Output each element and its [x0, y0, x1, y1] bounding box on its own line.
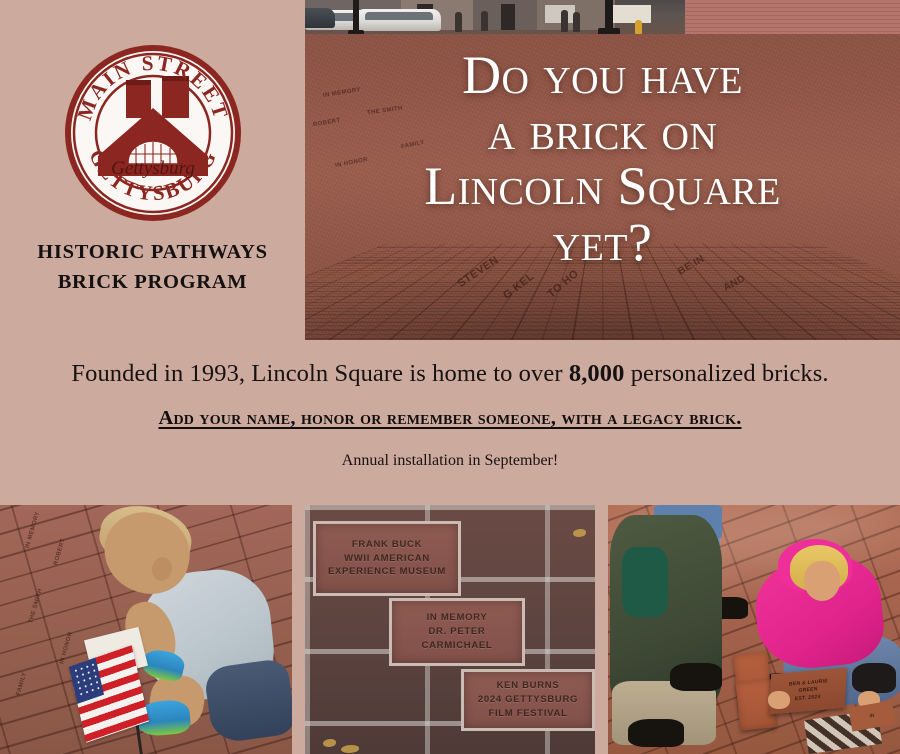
brand-column: MAIN STREET GETTYSBURG Gettysburg HISTOR… [0, 0, 305, 340]
fire-hydrant [635, 20, 642, 34]
call-to-action-text: Add your name, honor or remember someone… [158, 407, 741, 430]
car-window [365, 12, 433, 20]
storefront-door [501, 4, 515, 30]
headline-line-2: a brick on [319, 104, 886, 160]
brick-line: CARMICHAEL [422, 639, 493, 653]
flyer-root: MAIN STREET GETTYSBURG Gettysburg HISTOR… [0, 0, 900, 754]
hero-headline: Do you have a brick on Lincoln Square ye… [305, 48, 900, 270]
program-title-line-1: HISTORIC PATHWAYS [37, 238, 267, 268]
pedestrian [455, 12, 462, 32]
engraved-brick: KEN BURNS 2024 GETTYSBURG FILM FESTIVAL [461, 669, 595, 731]
installation-note: Annual installation in September! [342, 452, 558, 470]
lede-paragraph: Founded in 1993, Lincoln Square is home … [71, 360, 828, 388]
pedestrian [481, 11, 488, 31]
headline-line-3: Lincoln Square [319, 159, 886, 215]
streetscape-band [305, 0, 900, 38]
brick-line: FILM FESTIVAL [488, 707, 567, 721]
bystander-shoe [670, 663, 722, 691]
pedestrian [561, 10, 568, 32]
logo-script-text: Gettysburg [111, 158, 195, 179]
volunteer-boot [852, 663, 896, 693]
brick-line: EST. 2024 [795, 694, 821, 704]
brick-line: 2024 GETTYSBURG [478, 693, 578, 707]
parked-car [305, 8, 335, 28]
engraved-brick: FRANK BUCK WWII AMERICAN EXPERIENCE MUSE… [313, 521, 461, 596]
pedestrian [573, 12, 580, 32]
main-street-gettysburg-logo: MAIN STREET GETTYSBURG Gettysburg [64, 44, 242, 222]
brick-line: IN [869, 713, 875, 720]
toddler-shorts [203, 658, 292, 745]
hero-banner: IN MEMORY ROBERT THE SMITH FAMILY IN HON… [305, 0, 900, 340]
storefront-window [545, 5, 575, 23]
lede-suffix: personalized bricks. [624, 360, 828, 387]
headline-line-4: yet? [319, 215, 886, 271]
volunteer-hand [768, 691, 790, 709]
photo-gallery: IN MEMORY ROBERT THE SMITH IN HONOR FAMI… [0, 505, 900, 754]
brick-count: 8,000 [569, 360, 625, 387]
lamppost [353, 0, 359, 34]
bystander-green-shirt [622, 547, 668, 617]
brick-line: IN MEMORY [427, 611, 488, 625]
lede-prefix: Founded in 1993, Lincoln Square is home … [71, 360, 568, 387]
photo-brick-installation: BEN & LAURIE GREEN EST. 2024 IN [608, 505, 900, 754]
parked-car [357, 9, 441, 31]
brick-building-wall [685, 0, 900, 38]
body-text-block: Founded in 1993, Lincoln Square is home … [0, 340, 900, 505]
engraved-brick: IN MEMORY DR. PETER CARMICHAEL [389, 598, 525, 666]
seal-icon: MAIN STREET GETTYSBURG Gettysburg [64, 44, 242, 222]
program-title: HISTORIC PATHWAYS BRICK PROGRAM [37, 238, 267, 297]
brick-line: WWII AMERICAN [344, 552, 430, 566]
photo-engraved-bricks-closeup: FRANK BUCK WWII AMERICAN EXPERIENCE MUSE… [305, 505, 595, 754]
brick-line: DR. PETER [429, 625, 486, 639]
bystander-shoe [628, 719, 684, 747]
flag-stars [72, 662, 100, 700]
brick-line: KEN BURNS [497, 679, 560, 693]
volunteer-face [804, 561, 840, 601]
brick-line: FRANK BUCK [352, 538, 422, 552]
program-title-line-2: BRICK PROGRAM [37, 268, 267, 298]
headline-line-1: Do you have [319, 48, 886, 104]
brick-line: EXPERIENCE MUSEUM [328, 565, 446, 579]
photo-toddler-on-brick-walkway: IN MEMORY ROBERT THE SMITH IN HONOR FAMI… [0, 505, 292, 754]
